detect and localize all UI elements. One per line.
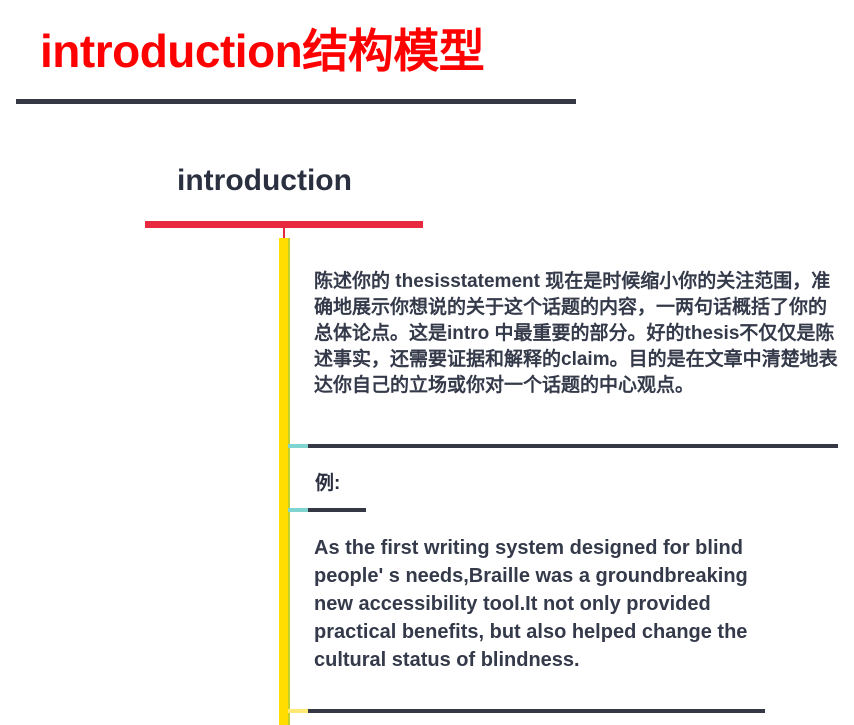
vertical-timeline-spine-edge <box>288 238 290 725</box>
divider-rule-bottom <box>308 709 765 713</box>
example-body-paragraph: As the first writing system designed for… <box>314 534 764 674</box>
section-accent-bar <box>145 221 423 228</box>
title-underline-rule <box>16 99 576 104</box>
page-title: introduction结构模型 <box>40 26 484 77</box>
divider-rule-middle <box>308 508 366 512</box>
thesis-description-paragraph: 陈述你的 thesisstatement 现在是时候缩小你的关注范围，准确地展示… <box>314 269 842 399</box>
section-heading-introduction: introduction <box>177 164 352 198</box>
connector-segment-bottom <box>288 709 310 713</box>
connector-segment-middle <box>288 508 310 512</box>
divider-rule-top <box>308 444 838 448</box>
connector-segment-top <box>288 444 310 448</box>
example-label: 例: <box>315 468 340 495</box>
